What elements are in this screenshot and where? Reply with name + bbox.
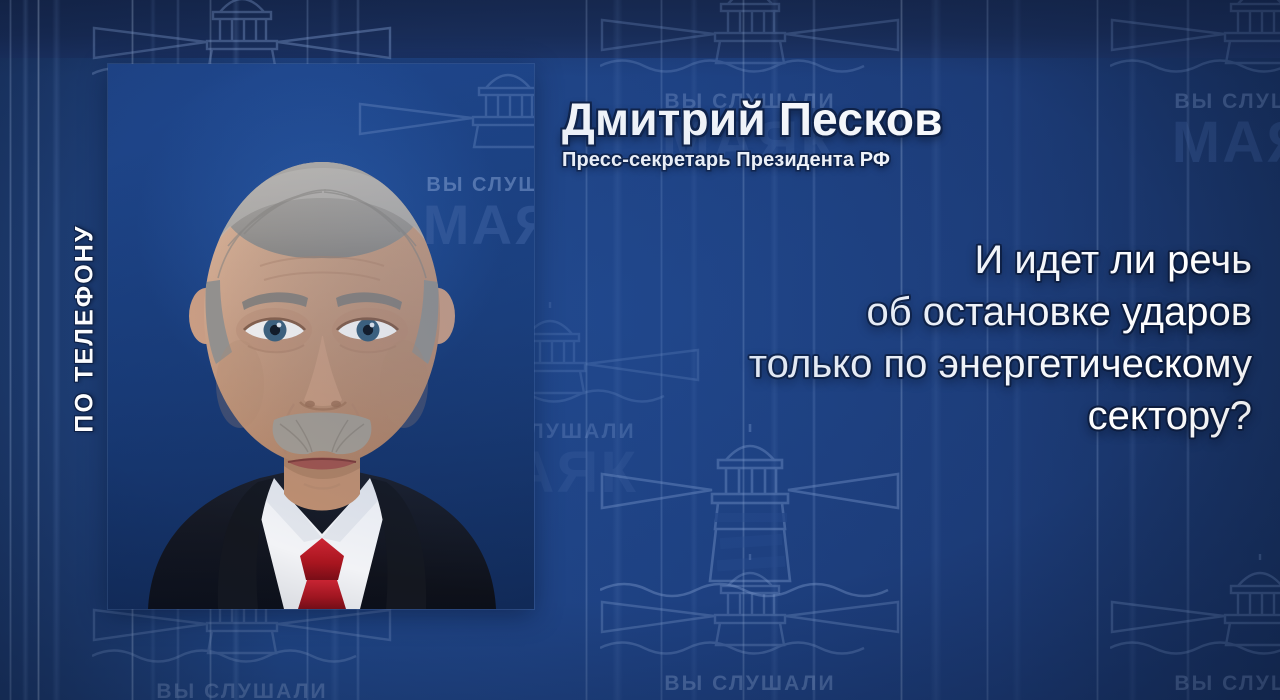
quote-line-4: сектору? [572,390,1252,442]
quote-line-3: только по энергетическому [572,338,1252,390]
portrait-figure [108,64,534,609]
quote-line-2: об остановке ударов [572,286,1252,338]
call-mode-badge: ПО ТЕЛЕФОНУ [68,186,102,470]
call-mode-label: ПО ТЕЛЕФОНУ [71,224,100,432]
broadcast-lower-third-frame: ВЫ СЛУШАЛИ МАЯК ВЫ СЛУШАЛИ МАЯК [0,0,1280,700]
speaker-identity-block: Дмитрий Песков Пресс-секретарь Президент… [562,96,1252,172]
speaker-role: Пресс-секретарь Президента РФ [562,149,1252,172]
quote-line-1: И идет ли речь [572,234,1252,286]
speaker-portrait: ВЫ СЛУШАЛИ МАЯК [108,64,534,609]
speaker-name: Дмитрий Песков [562,96,1252,143]
moustache [273,413,372,455]
quote-text: И идет ли речь об остановке ударов тольк… [572,234,1252,442]
